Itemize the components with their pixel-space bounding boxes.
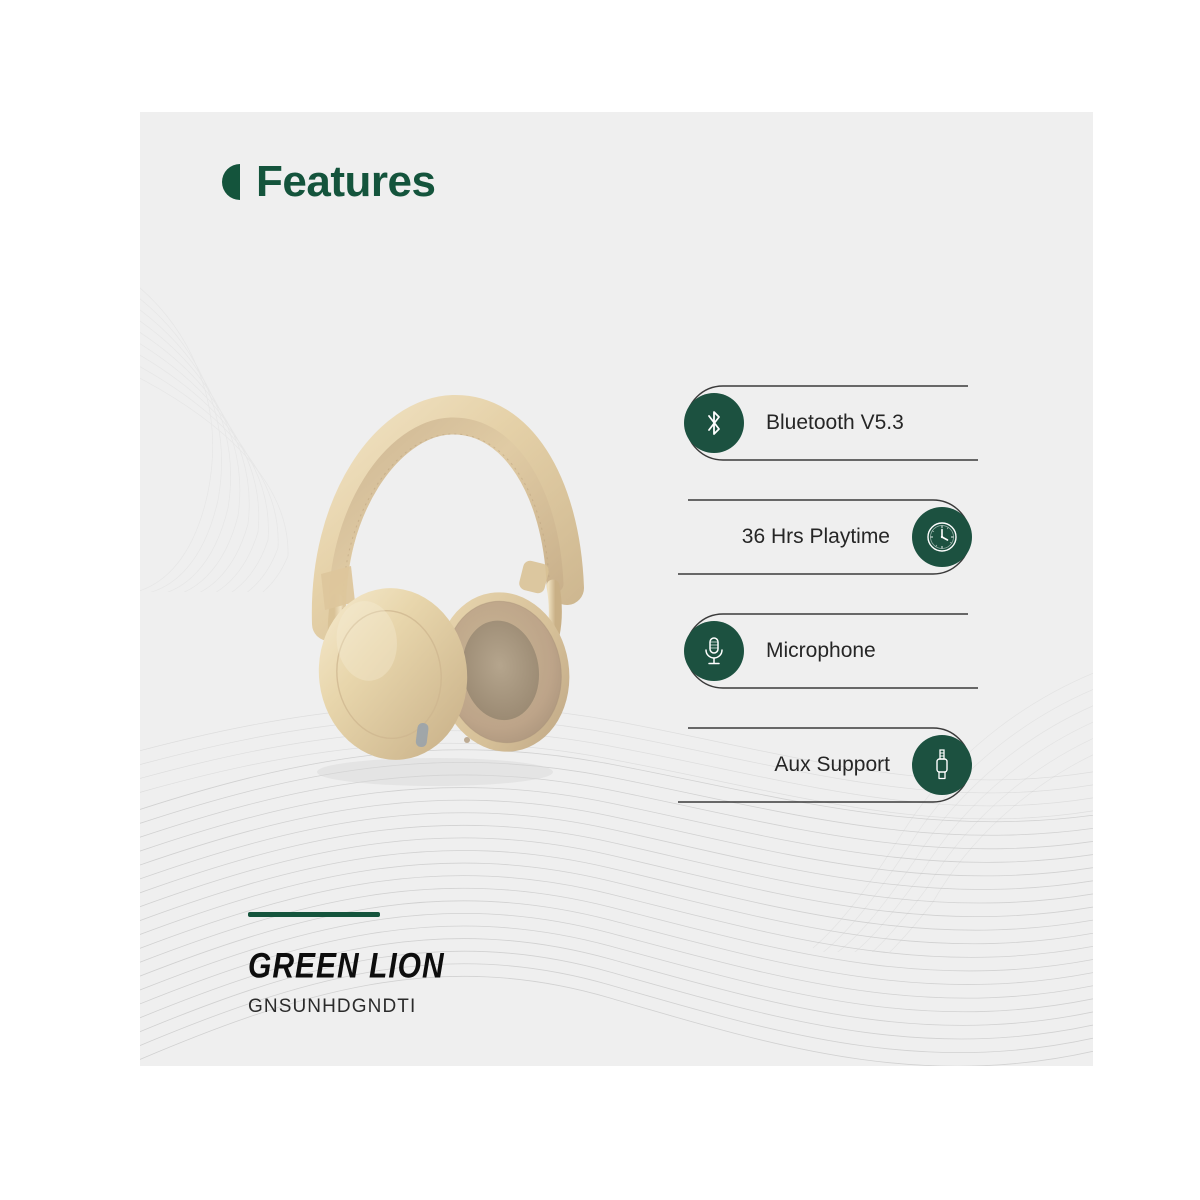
- half-disc-icon: [220, 162, 242, 202]
- feature-label: Bluetooth V5.3: [766, 384, 904, 462]
- microphone-icon: [700, 635, 728, 667]
- page-title: Features: [256, 160, 435, 204]
- feature-label: 36 Hrs Playtime: [742, 498, 890, 576]
- product-image-headphones: [285, 374, 595, 794]
- page-header: Features: [220, 160, 435, 204]
- feature-badge-playtime[interactable]: 36 Hrs Playtime: [678, 498, 978, 576]
- brand-model-code: GNSUNHDGNDTI: [248, 997, 445, 1016]
- feature-badge-aux[interactable]: Aux Support: [678, 726, 978, 804]
- poster: Features: [0, 0, 1200, 1200]
- aux-jack-icon: [930, 748, 954, 782]
- feature-icon-circle: [684, 621, 744, 681]
- feature-label: Microphone: [766, 612, 876, 690]
- features-list: Bluetooth V5.3: [678, 384, 978, 804]
- feature-label: Aux Support: [774, 726, 890, 804]
- brand-name: GREEN LION: [248, 949, 445, 984]
- feature-icon-circle: [684, 393, 744, 453]
- feature-icon-circle: [912, 507, 972, 567]
- feature-badge-bluetooth[interactable]: Bluetooth V5.3: [678, 384, 978, 462]
- feature-icon-circle: [912, 735, 972, 795]
- brand-divider: [248, 912, 380, 917]
- feature-badge-microphone[interactable]: Microphone: [678, 612, 978, 690]
- clock-icon: [925, 520, 959, 554]
- brand-block: GREEN LION GNSUNHDGNDTI: [248, 912, 445, 1016]
- bluetooth-icon: [701, 408, 727, 438]
- poster-canvas: Features: [140, 112, 1093, 1066]
